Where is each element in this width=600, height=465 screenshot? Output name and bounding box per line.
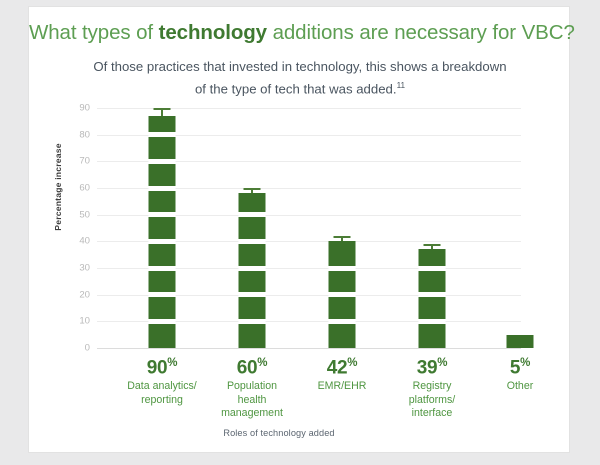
percent-sign: % bbox=[167, 357, 177, 369]
percent-sign: % bbox=[347, 357, 357, 369]
percent-sign: % bbox=[437, 357, 447, 369]
bar-segment-gap bbox=[149, 292, 176, 297]
bar-segment-gap bbox=[329, 266, 356, 271]
bar-segment-gap bbox=[419, 292, 446, 297]
category-value-number: 5 bbox=[510, 357, 520, 378]
bar[interactable] bbox=[507, 335, 534, 348]
y-axis-tick-label: 80 bbox=[79, 129, 90, 140]
x-axis-label: Roles of technology added bbox=[29, 428, 529, 438]
y-axis-tick-label: 0 bbox=[85, 343, 90, 354]
percent-sign: % bbox=[520, 357, 530, 369]
bar-segment-gap bbox=[149, 212, 176, 217]
y-axis-tick-label: 90 bbox=[79, 103, 90, 114]
category-value-number: 42 bbox=[327, 357, 348, 378]
bar[interactable] bbox=[329, 241, 356, 348]
error-bar-cap bbox=[424, 244, 441, 246]
error-bar-cap bbox=[244, 188, 261, 190]
chart-card: What types of technology additions are n… bbox=[28, 6, 570, 453]
bar[interactable] bbox=[149, 116, 176, 348]
percent-sign: % bbox=[257, 357, 267, 369]
bar-segment-gap bbox=[239, 212, 266, 217]
bar[interactable] bbox=[419, 249, 446, 348]
bar-segment-gap bbox=[149, 132, 176, 137]
y-axis-tick-label: 60 bbox=[79, 183, 90, 194]
bar-segment-gap bbox=[239, 292, 266, 297]
plot-area: Percentage increase 0102030405060708090 … bbox=[29, 7, 571, 454]
bar-segment-gap bbox=[239, 266, 266, 271]
y-axis-tick-label: 30 bbox=[79, 263, 90, 274]
bar[interactable] bbox=[239, 193, 266, 348]
bar-segment-gap bbox=[239, 239, 266, 244]
category-value-number: 90 bbox=[147, 357, 168, 378]
bar-segment-gap bbox=[149, 239, 176, 244]
category-value-number: 60 bbox=[237, 357, 258, 378]
bar-segment-gap bbox=[419, 266, 446, 271]
category-name-label: Other bbox=[466, 380, 574, 393]
y-axis-tick-label: 70 bbox=[79, 156, 90, 167]
x-axis-category: 5%Other bbox=[466, 352, 574, 394]
bar-segment-gap bbox=[149, 159, 176, 164]
gridline: 0 bbox=[97, 348, 521, 349]
y-axis-tick-label: 40 bbox=[79, 236, 90, 247]
chart-axes: 0102030405060708090 bbox=[97, 108, 521, 348]
error-bar-cap bbox=[334, 236, 351, 238]
y-axis-tick-label: 50 bbox=[79, 209, 90, 220]
bar-segment-gap bbox=[329, 319, 356, 324]
bar-segment-gap bbox=[149, 266, 176, 271]
y-axis-tick-label: 20 bbox=[79, 289, 90, 300]
y-axis-label: Percentage increase bbox=[53, 127, 63, 247]
category-value-number: 39 bbox=[417, 357, 438, 378]
y-axis-tick-label: 10 bbox=[79, 316, 90, 327]
bar-segment-gap bbox=[239, 319, 266, 324]
bar-segment-gap bbox=[149, 319, 176, 324]
error-bar-cap bbox=[154, 108, 171, 110]
bar-segment-gap bbox=[149, 186, 176, 191]
bar-segment-gap bbox=[329, 292, 356, 297]
bar-segment-gap bbox=[419, 319, 446, 324]
category-value-label: 5% bbox=[466, 352, 574, 379]
